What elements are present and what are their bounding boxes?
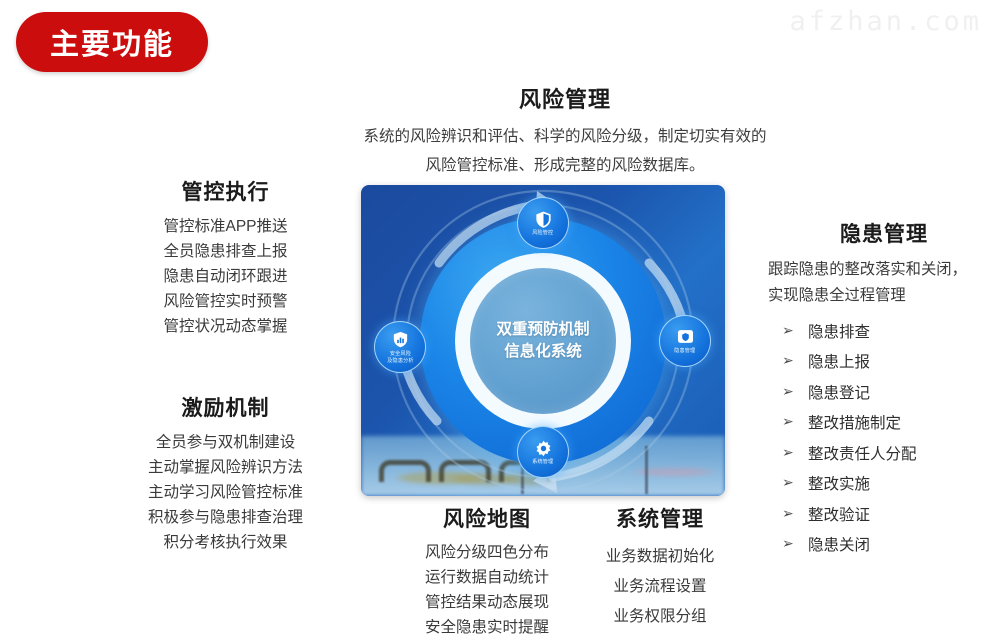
central-diagram: 双重预防机制信息化系统 风险管控 隐患管理 系统管理 [361, 185, 725, 496]
diagram-node-system-management[interactable]: 系统管理 [517, 426, 569, 478]
list-item: 全员参与双机制建设 [108, 430, 343, 455]
desc-line: 实现隐患全过程管理 [768, 283, 1000, 309]
list-item: 业务数据初始化 [580, 542, 740, 572]
diagram-node-risk-control[interactable]: 风险管控 [517, 197, 569, 249]
desc-line: 跟踪隐患的整改落实和关闭， [768, 257, 1000, 283]
list-item: ➢ 整改措施制定 [768, 407, 1000, 438]
bullet-arrow-icon: ➢ [782, 446, 794, 460]
list-item: 主动掌握风险辨识方法 [108, 455, 343, 480]
block-system-management: 系统管理 业务数据初始化 业务流程设置 业务权限分组 [580, 503, 740, 633]
list-item: 风险分级四色分布 [398, 540, 576, 565]
diagram-node-hazard-management[interactable]: 隐患管理 [659, 315, 711, 367]
list-item: 积分考核执行效果 [108, 530, 343, 555]
watermark: afzhan.com [789, 6, 982, 37]
block-risk-management-title: 风险管理 [330, 82, 800, 114]
block-risk-management: 风险管理 系统的风险辨识和评估、科学的风险分级，制定切实有效的 风险管控标准、形… [330, 82, 800, 180]
list-item-label: 隐患关闭 [808, 533, 870, 555]
list-item: 管控标准APP推送 [118, 214, 333, 239]
list-item-label: 整改责任人分配 [808, 442, 917, 464]
list-item: 管控结果动态展现 [398, 590, 576, 615]
list-item: ➢ 隐患登记 [768, 377, 1000, 408]
list-item: 业务权限分组 [580, 602, 740, 632]
list-item: 管控状况动态掌握 [118, 314, 333, 339]
list-item: ➢ 隐患排查 [768, 316, 1000, 347]
slide-canvas: afzhan.com 主要功能 风险管理 系统的风险辨识和评估、科学的风险分级，… [0, 0, 1000, 644]
block-control-execution-title: 管控执行 [118, 176, 333, 206]
list-item: 运行数据自动统计 [398, 565, 576, 590]
chart-shield-icon [390, 330, 410, 350]
bullet-arrow-icon: ➢ [782, 537, 794, 551]
list-item: 业务流程设置 [580, 572, 740, 602]
block-incentive-mechanism: 激励机制 全员参与双机制建设 主动掌握风险辨识方法 主动学习风险管控标准 积极参… [108, 392, 343, 556]
bullet-arrow-icon: ➢ [782, 507, 794, 521]
bullet-arrow-icon: ➢ [782, 385, 794, 399]
diagram-node-risk-analysis[interactable]: 安全风险 及隐患分析 [374, 321, 426, 373]
diagram-node-label: 风险管控 [532, 230, 553, 236]
section-badge: 主要功能 [16, 12, 208, 72]
shield-icon [533, 209, 553, 229]
gear-icon [533, 438, 553, 458]
list-item: 风险管控实时预警 [118, 289, 333, 314]
bullet-arrow-icon: ➢ [782, 476, 794, 490]
desc-line: 系统的风险辨识和评估、科学的风险分级，制定切实有效的 [330, 123, 800, 152]
block-hazard-management-bullets: ➢ 隐患排查 ➢ 隐患上报 ➢ 隐患登记 ➢ 整改措施制定 ➢ 整改责任人分配 … [768, 316, 1000, 560]
block-risk-map: 风险地图 风险分级四色分布 运行数据自动统计 管控结果动态展现 安全隐患实时提醒 [398, 503, 576, 640]
diagram-core-label: 双重预防机制信息化系统 [491, 319, 595, 363]
block-control-execution: 管控执行 管控标准APP推送 全员隐患排查上报 隐患自动闭环跟进 风险管控实时预… [118, 176, 333, 340]
diagram-node-label: 隐患管理 [674, 348, 695, 354]
hazard-folder-icon [675, 327, 695, 347]
bullet-arrow-icon: ➢ [782, 415, 794, 429]
block-hazard-management-title: 隐患管理 [768, 218, 1000, 248]
block-incentive-mechanism-list: 全员参与双机制建设 主动掌握风险辨识方法 主动学习风险管控标准 积极参与隐患排查… [108, 430, 343, 556]
block-risk-map-title: 风险地图 [398, 503, 576, 533]
list-item: ➢ 隐患关闭 [768, 529, 1000, 560]
list-item: ➢ 隐患上报 [768, 346, 1000, 377]
list-item-label: 整改验证 [808, 503, 870, 525]
list-item: 隐患自动闭环跟进 [118, 264, 333, 289]
list-item: 主动学习风险管控标准 [108, 480, 343, 505]
diagram-node-label: 安全风险 及隐患分析 [387, 351, 413, 364]
diagram-node-label: 系统管理 [532, 459, 553, 465]
diagram-core: 双重预防机制信息化系统 [470, 268, 616, 414]
list-item-label: 整改措施制定 [808, 411, 901, 433]
list-item: ➢ 整改验证 [768, 499, 1000, 530]
list-item: 全员隐患排查上报 [118, 239, 333, 264]
list-item: ➢ 整改责任人分配 [768, 438, 1000, 469]
block-incentive-mechanism-title: 激励机制 [108, 392, 343, 422]
list-item-label: 整改实施 [808, 472, 870, 494]
block-hazard-management-desc: 跟踪隐患的整改落实和关闭， 实现隐患全过程管理 [768, 257, 1000, 310]
list-item-label: 隐患排查 [808, 320, 870, 342]
bullet-arrow-icon: ➢ [782, 324, 794, 338]
list-item: 积极参与隐患排查治理 [108, 505, 343, 530]
section-badge-label: 主要功能 [50, 21, 174, 63]
list-item-label: 隐患上报 [808, 350, 870, 372]
list-item: 安全隐患实时提醒 [398, 615, 576, 640]
block-system-management-list: 业务数据初始化 业务流程设置 业务权限分组 [580, 542, 740, 633]
block-control-execution-list: 管控标准APP推送 全员隐患排查上报 隐患自动闭环跟进 风险管控实时预警 管控状… [118, 214, 333, 340]
block-risk-map-list: 风险分级四色分布 运行数据自动统计 管控结果动态展现 安全隐患实时提醒 [398, 540, 576, 640]
block-system-management-title: 系统管理 [580, 503, 740, 533]
list-item: ➢ 整改实施 [768, 468, 1000, 499]
desc-line: 风险管控标准、形成完整的风险数据库。 [330, 152, 800, 181]
block-risk-management-desc: 系统的风险辨识和评估、科学的风险分级，制定切实有效的 风险管控标准、形成完整的风… [330, 123, 800, 180]
block-hazard-management: 隐患管理 跟踪隐患的整改落实和关闭， 实现隐患全过程管理 ➢ 隐患排查 ➢ 隐患… [768, 218, 1000, 560]
bullet-arrow-icon: ➢ [782, 354, 794, 368]
list-item-label: 隐患登记 [808, 381, 870, 403]
